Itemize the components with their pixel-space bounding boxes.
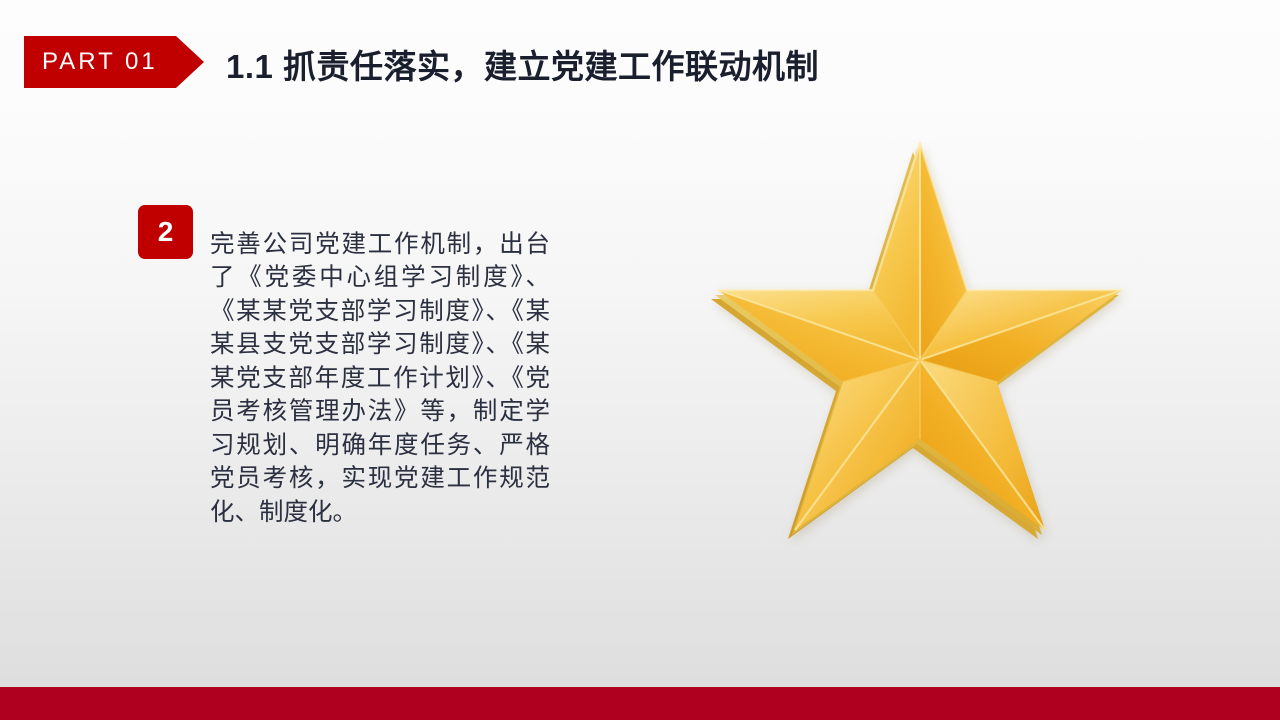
item-number-badge: 2 — [138, 205, 193, 259]
slide-canvas: PART 01 1.1 抓责任落实，建立党建工作联动机制 2 完善公司党建工作机… — [0, 0, 1280, 720]
item-body-text: 完善公司党建工作机制，出台了《党委中心组学习制度》、《某某党支部学习制度》、《某… — [210, 228, 550, 530]
part-banner: PART 01 — [24, 36, 204, 88]
gold-five-pointed-star-icon — [690, 130, 1160, 600]
footer-bar — [0, 687, 1280, 720]
slide-header: PART 01 1.1 抓责任落实，建立党建工作联动机制 — [0, 0, 1280, 120]
page-title: 1.1 抓责任落实，建立党建工作联动机制 — [226, 40, 819, 88]
item-number-badge-label: 2 — [158, 218, 174, 246]
part-banner-label: PART 01 — [24, 50, 158, 74]
